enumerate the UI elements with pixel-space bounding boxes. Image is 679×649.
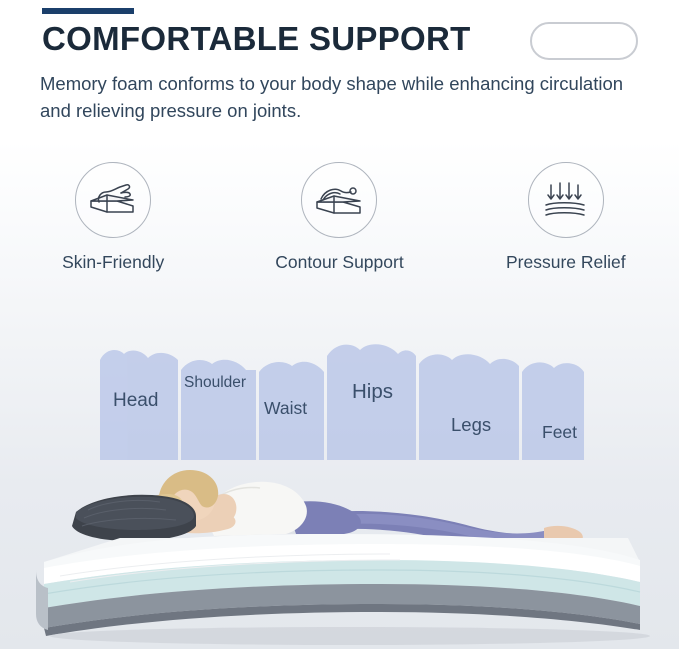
mattress-topper	[36, 534, 640, 636]
feature-item-pressure-relief: Pressure Relief	[453, 162, 679, 282]
downward-arrows-foam-icon	[528, 162, 604, 238]
product-infographic: COMFORTABLE SUPPORT Memory foam conforms…	[0, 0, 679, 649]
mattress-shadow	[50, 627, 650, 645]
contour-foam-icon	[301, 162, 377, 238]
feature-item-skin-friendly: Skin-Friendly	[0, 162, 226, 282]
feature-label: Pressure Relief	[506, 252, 626, 273]
title-badge	[530, 22, 638, 60]
feature-label: Skin-Friendly	[62, 252, 164, 273]
accent-bar	[42, 8, 134, 14]
feature-label: Contour Support	[275, 252, 403, 273]
pillow	[72, 495, 196, 541]
hand-on-foam-icon	[75, 162, 151, 238]
page-title: COMFORTABLE SUPPORT	[42, 20, 471, 58]
page-subtitle: Memory foam conforms to your body shape …	[40, 70, 652, 124]
header: COMFORTABLE SUPPORT Memory foam conforms…	[0, 0, 679, 140]
feature-item-contour-support: Contour Support	[226, 162, 452, 282]
mattress-scene	[0, 330, 679, 649]
feature-list: Skin-Friendly Contour Support	[0, 162, 679, 282]
